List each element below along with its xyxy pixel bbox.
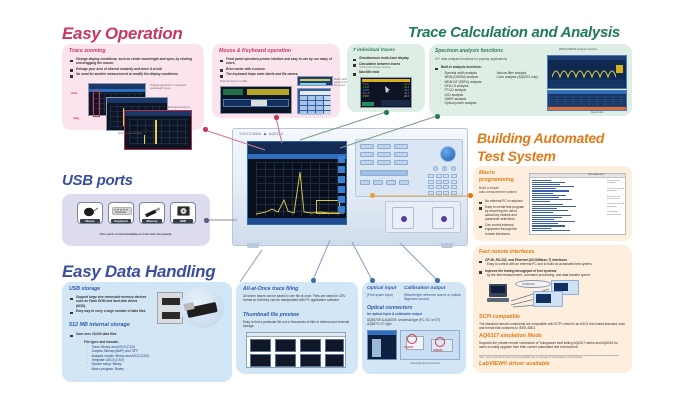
code-lines <box>532 180 592 233</box>
callout-dot-spectrum <box>435 114 440 119</box>
lead-spectrum-analysis: 11+ data analysis functions for popular … <box>435 57 507 61</box>
list-item: Improve the testing throughput of test s… <box>479 269 627 278</box>
brochure-page: Easy Operation Trace zooming Change disp… <box>0 0 680 417</box>
panel-remote-interfaces: Fast remote interfaces GP-IB, RS-232, an… <box>473 245 632 373</box>
screenshot-thumbnail-browser <box>246 332 346 368</box>
panel-usb-ports: Mouse Keyboard Memory HDD Four ports in … <box>62 194 210 246</box>
section-title-building-line2: Test System <box>477 148 556 164</box>
screenshot-onscreen-keypad <box>297 88 331 114</box>
list-item: Color analysis (AQ6373 only) <box>492 75 542 79</box>
list-item: Change display conditions, such as cente… <box>70 57 198 66</box>
caption-enlarged-waveform: Enlarged waveform <box>168 106 200 109</box>
subtitle-thumbnail-preview: Thumbnail file preview <box>243 312 299 318</box>
usb-memory-icon <box>144 206 162 217</box>
screenshot-macro-editor: PROGRAM EDIT Measurement conditions Cont… <box>529 173 626 235</box>
subtitle-labview: LabVIEW® driver available <box>479 361 550 367</box>
subtitle-scpi: SCPI compatible <box>479 314 520 320</box>
list-remote: GP-IB, RS-232, and Ethernet (10/100Base-… <box>479 258 627 278</box>
list-builtin-label: Built-in analysis functions: <box>435 65 482 71</box>
annotation: Measurement conditions <box>607 180 624 185</box>
list-item: Enlarge your area of interest instantly … <box>70 67 198 71</box>
screenshot-result-table <box>547 90 627 111</box>
screenshot-wdm-analysis <box>547 55 627 89</box>
usb-icon-label: Memory <box>140 219 164 223</box>
list-item-body: by the fast measurement, command process… <box>485 273 627 277</box>
panel-macro-programming: Macro programming Build a simple auto-me… <box>473 166 632 241</box>
panel-mouse-keyboard: Mouse & Keyboard operation Front panel o… <box>212 44 340 118</box>
mouse-icon <box>83 206 99 217</box>
list-item: Max/Min hold <box>353 70 423 74</box>
list-item: GP-IB, RS-232, and Ethernet (10/100Base-… <box>479 258 627 267</box>
label-click: click <box>71 91 77 95</box>
subtitle-mouse-keyboard: Mouse & Keyboard operation <box>219 48 291 54</box>
annotation: Calculating between traces <box>607 211 624 216</box>
subtitle-spectrum-analysis: Spectrum analysis functions <box>435 48 503 54</box>
device-display <box>247 141 347 225</box>
list-item: Easy way to carry a large number of data… <box>70 309 148 313</box>
subtitle-optical-input: Optical input <box>367 286 396 291</box>
callout-dot-remote-panel <box>370 193 375 198</box>
list-item: Simultaneous multi-trace display <box>353 56 423 60</box>
pc-icon <box>489 284 507 297</box>
subtitle-optical-connectors: Optical connectors <box>367 305 412 311</box>
list-item: Can control external equipment through t… <box>479 223 525 236</box>
list-item: No external PC is required. <box>479 199 525 203</box>
list-traces: Simultaneous multi-trace display Calcula… <box>353 56 423 76</box>
analyzer-icon-2 <box>533 291 563 307</box>
usb-icon-memory: Memory <box>139 202 165 224</box>
subtitle-aq6317-emulation: AQ6317 emulation Mode <box>479 333 542 339</box>
subtitle-optical-connectors-sub: for optical input & calibration output <box>367 312 422 316</box>
usb-icon-mouse: Mouse <box>77 202 103 224</box>
section-title-usb-ports: USB ports <box>62 172 133 189</box>
panel-spectrum-analysis: Spectrum analysis functions 11+ data ana… <box>429 44 632 116</box>
calibration-output-port <box>432 207 454 229</box>
subtitle-remote-interfaces: Fast remote interfaces <box>479 249 534 255</box>
screenshot-enlarged-waveform <box>124 110 192 150</box>
list-analysis-left: Spectral width analysis WDM (DWDM) analy… <box>440 71 488 106</box>
panel-usb-storage: USB storage Support large size removable… <box>62 282 232 382</box>
annotation: Control of external equipment <box>607 203 624 208</box>
usb-icon-label: Mouse <box>78 219 102 223</box>
device-keypad <box>355 139 463 197</box>
subtitle-internal-storage: 512 MB internal storage <box>69 322 130 328</box>
list-trace-zooming: Change display conditions, such as cente… <box>70 57 198 78</box>
device-brand-label: YOKOGAWA ◆ AQ6370 <box>239 132 283 136</box>
list-item: Built-in analysis functions: <box>435 65 482 69</box>
list-analysis-right: Various filter analysis Color analysis (… <box>492 71 542 80</box>
list-item: Easy to create test program by recording… <box>479 205 525 222</box>
list-item: Front panel operation proven intuitive a… <box>220 57 335 66</box>
photo-universal-connectors: AQ9447 AQ9031 <box>400 330 460 360</box>
caption-usb-ports: Four ports in total available on front a… <box>62 232 210 236</box>
subtitle-usb-storage: USB storage <box>69 286 100 292</box>
note-calibration-output: (Wavelength reference source or optical … <box>404 293 462 302</box>
panel-trace-filing: All-at-Once trace filing All seven trace… <box>236 282 358 374</box>
caption-point-item: Point the item to modify. <box>220 80 248 83</box>
list-item-body: Easy to control with an external PC and … <box>485 262 627 266</box>
callout-dot-trace-zooming <box>203 127 208 132</box>
list-mouse-keyboard: Front panel operation proven intuitive a… <box>220 57 335 78</box>
photo-label-0: AQ9447 <box>404 346 414 349</box>
section-title-building-line1: Building Automated <box>477 130 604 146</box>
device-rotary-knob <box>440 146 456 162</box>
subtitle-trace-zooming: Trace zooming <box>69 48 106 54</box>
subtitle-macro-line1: Macro <box>479 170 495 176</box>
wdm-waveform <box>552 63 616 79</box>
screenshot-trace-list: B:FIX-46.4 C:FIX-40.4 D:FIX-46.4 E:C-D-4… <box>360 77 412 108</box>
caption-wdm-title: WDM (DWDM) Analysis Function <box>559 48 597 51</box>
list-item: Calculation between traces (subtraction … <box>353 62 423 70</box>
caption-result-table: Result table <box>591 111 604 114</box>
device-optical-ports <box>385 201 461 233</box>
callout-dot-building <box>468 193 473 198</box>
list-item: Optical power analysis <box>440 101 488 105</box>
subtitle-individual-traces: 7 individual traces <box>353 48 395 53</box>
caption-quick-window: Quick-to-see window <box>118 132 142 135</box>
usb-icon-label: Keyboard <box>109 219 133 223</box>
caption-original-waveform: Original waveform in measured wavelength… <box>150 84 190 90</box>
annotation: Control of external equipment <box>607 188 624 193</box>
pc-base-icon <box>487 298 509 302</box>
section-title-data-handling: Easy Data Handling <box>62 262 215 282</box>
note-optical-input: (Free space input) <box>367 293 407 297</box>
list-item: No need for another measurement to modif… <box>70 72 198 76</box>
list-item-label: Calculation between traces <box>359 62 400 66</box>
list-internal-storage: Save over 20,000 data files <box>70 332 156 338</box>
screenshot-value-display <box>297 76 333 86</box>
list-item-subnote: (subtraction between traces) <box>359 66 423 69</box>
body-aq6317-emulation: Supports the private remote commands of … <box>479 341 626 350</box>
body-all-at-once: All seven traces can be saved in one fil… <box>243 294 353 303</box>
callout-dot-optical-input <box>370 278 375 283</box>
subtitle-all-at-once: All-at-Once trace filing <box>243 286 298 292</box>
hdd-icon <box>177 206 191 217</box>
list-usb-storage: Support large size removable memory devi… <box>70 295 148 315</box>
annotation: Execution of a measurement <box>607 196 624 201</box>
code-annotations: Measurement conditions Control of extern… <box>607 180 624 232</box>
usb-icon-hdd: HDD <box>170 202 196 224</box>
diagram-network: ETHERNET <box>481 279 626 312</box>
optical-input-port <box>392 207 414 229</box>
label-drag: drag <box>73 116 79 120</box>
line-connectors-1: AQ6373: FC type <box>367 322 462 326</box>
panel-optical-connectors: Optical input (Free space input) Calibra… <box>362 282 466 374</box>
list-item: Macro program: Binary <box>87 367 177 371</box>
code-editor-titlebar <box>530 174 625 178</box>
section-title-easy-operation: Easy Operation <box>62 24 183 44</box>
lead-macro-line2: auto-measurement system <box>479 190 524 194</box>
photo-usb-memory <box>180 288 224 328</box>
list-item: Support large size removable memory devi… <box>70 295 148 308</box>
callout-dot-allatonce <box>311 278 316 283</box>
subtitle-macro-line2: programming <box>479 177 514 183</box>
section-title-trace-calculation: Trace Calculation and Analysis <box>408 24 620 41</box>
callout-dot-usb <box>204 218 209 223</box>
photo-label-1: AQ9031 <box>433 349 443 352</box>
body-scpi: The standard remote commands are compati… <box>479 322 625 331</box>
label-file-types: File types and formats: <box>84 340 119 344</box>
list-macro: No external PC is required. Easy to crea… <box>479 199 525 237</box>
note-aq6317-emulation: Note: some commands may not be compatibl… <box>479 356 619 359</box>
usb-icon-label: HDD <box>171 219 195 223</box>
list-file-types: Trace: Binary and ASCII (CSV) Graphic: B… <box>87 345 177 371</box>
panel-individual-traces: 7 individual traces Simultaneous multi-t… <box>347 44 425 112</box>
panel-trace-zooming: Trace zooming Change display conditions,… <box>62 44 204 130</box>
photo-optical-input <box>367 330 397 360</box>
caption-universal-connectors: Universal type connectors <box>410 362 440 365</box>
label-ethernet: ETHERNET <box>522 283 535 286</box>
photo-optical-spectrum-analyzer: YOKOGAWA ◆ AQ6370 <box>232 128 468 246</box>
subtitle-calibration-output: Calibration output <box>404 286 445 291</box>
usb-icon-keyboard: Keyboard <box>108 202 134 224</box>
list-item: Save over 20,000 data files <box>70 332 156 336</box>
code-editor-title: PROGRAM EDIT <box>588 174 605 176</box>
callout-dot-calibration <box>435 278 440 283</box>
callout-dot-traces <box>384 110 389 115</box>
callout-dot-mouse-keyboard <box>274 115 279 120</box>
divider <box>479 355 619 356</box>
screenshot-parameter-entry <box>220 86 292 114</box>
keyboard-icon <box>112 207 132 216</box>
list-item: Even easier with a mouse. <box>220 67 335 71</box>
body-thumbnail-preview: Easy to find a particular file out of th… <box>243 320 353 329</box>
